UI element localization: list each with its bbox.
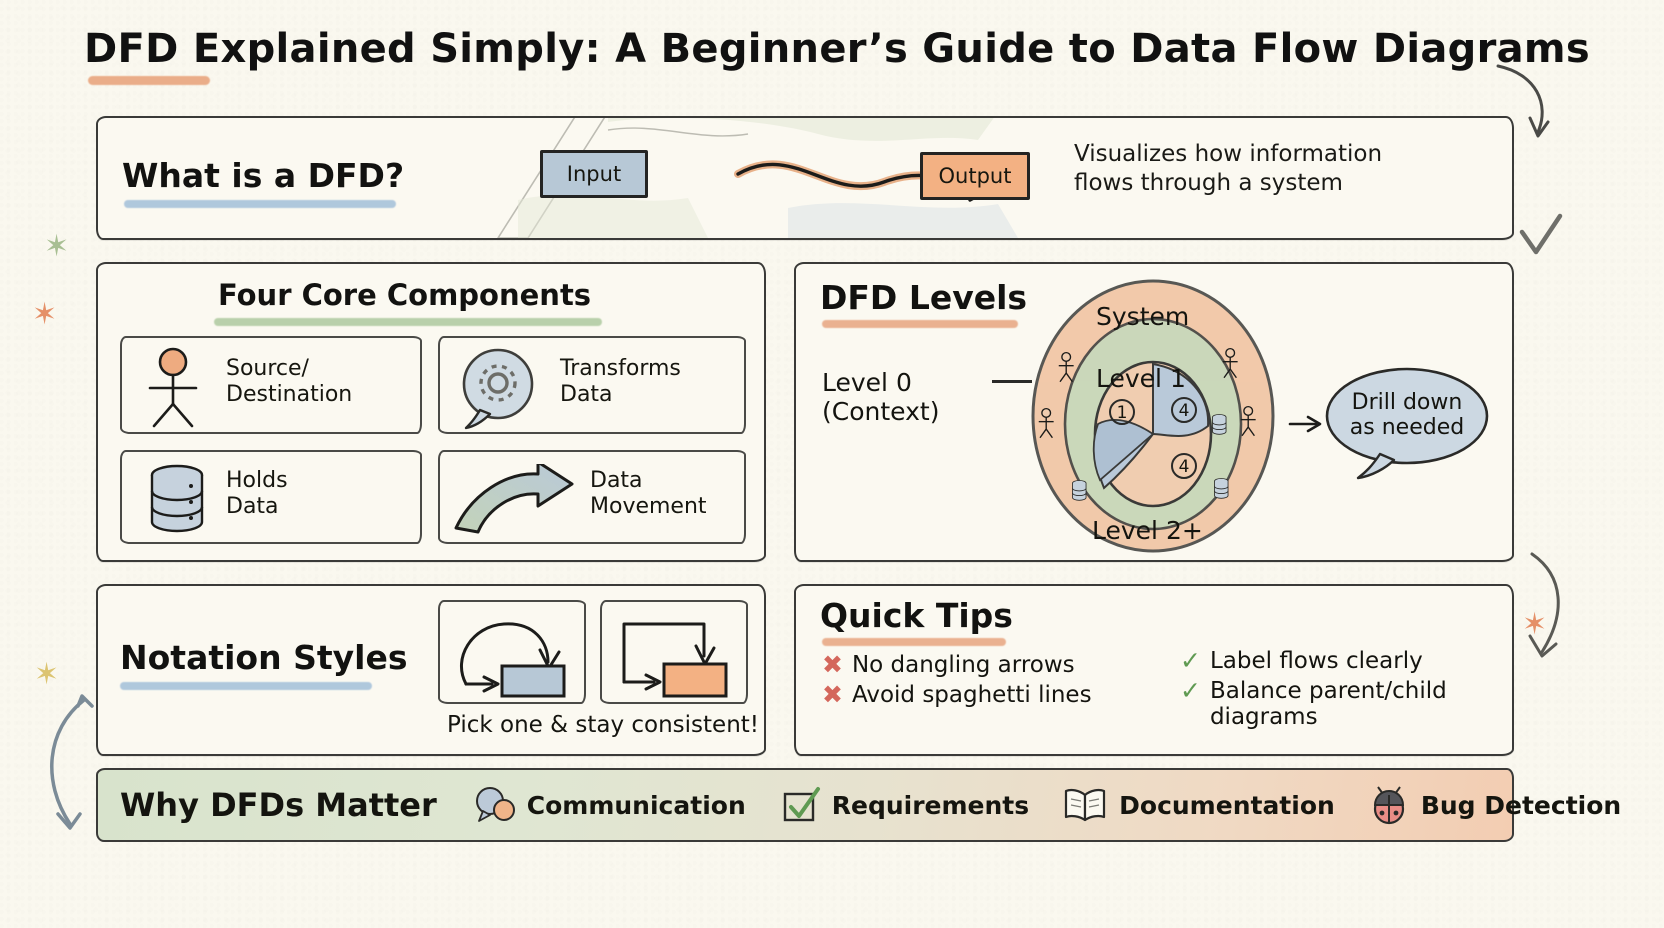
tips-heading-underline [822, 638, 1006, 646]
tips-dos-column: ✓ Label flows clearly ✓ Balance parent/c… [1180, 648, 1500, 734]
tip-do-label-1: Label flows clearly [1210, 648, 1423, 674]
component-cell-holds-data: Holds Data [120, 450, 422, 544]
gear-speech-bubble-icon [450, 344, 546, 432]
tip-row-dont-2: ✖ Avoid spaghetti lines [822, 682, 1152, 708]
tip-row-do-2: ✓ Balance parent/child diagrams [1180, 678, 1500, 730]
ladybug-icon [1369, 785, 1411, 825]
level0-label: Level 0 (Context) [822, 368, 1002, 426]
what-is-caption: Visualizes how information flows through… [1074, 140, 1474, 198]
why-item-requirements: Requirements [780, 785, 1029, 825]
orthogonal-flow-notation-icon [610, 608, 742, 700]
panel-notation-styles: Notation Styles Pick one & stay consiste [96, 584, 766, 756]
panel-why-dfds-matter: Why DFDs Matter Communication Requiremen… [96, 768, 1514, 842]
notation-heading: Notation Styles [120, 638, 407, 677]
notation-caption: Pick one & stay consistent! [438, 712, 768, 738]
component-label-2a: Transforms [560, 356, 681, 382]
check-mark-icon: ✓ [1180, 648, 1201, 673]
check-mark-icon: ✓ [1180, 678, 1201, 703]
ring-label-level1: Level 1 [1096, 364, 1186, 393]
component-label-3b: Data [226, 494, 288, 520]
x-mark-icon: ✖ [822, 682, 843, 707]
notation-card-curved[interactable] [438, 600, 586, 704]
svg-text:4: 4 [1179, 401, 1190, 421]
level0-line1: Level 0 [822, 368, 1002, 397]
levels-heading: DFD Levels [820, 278, 1027, 317]
x-mark-icon: ✖ [822, 652, 843, 677]
tip-row-do-1: ✓ Label flows clearly [1180, 648, 1500, 674]
tip-dont-label-1: No dangling arrows [852, 652, 1075, 678]
tip-do-label-2b: diagrams [1210, 704, 1447, 730]
checked-box-icon [780, 785, 822, 825]
component-label-1a: Source/ [226, 356, 352, 382]
components-heading: Four Core Components [218, 278, 591, 312]
notation-heading-underline [120, 682, 372, 690]
drill-down-arrow-icon [1288, 410, 1328, 436]
input-box-label: Input [567, 162, 621, 186]
panel-quick-tips: Quick Tips ✖ No dangling arrows ✖ Avoid … [794, 584, 1514, 756]
level0-line2: (Context) [822, 397, 1002, 426]
panel-what-is-a-dfd: What is a DFD? Input Output Visualizes h… [96, 116, 1514, 240]
output-box-label: Output [939, 164, 1012, 188]
tips-heading: Quick Tips [820, 596, 1013, 635]
speech-bubbles-icon [473, 785, 517, 825]
panel-four-core-components: Four Core Components Source/ Destination [96, 262, 766, 562]
why-heading: Why DFDs Matter [120, 786, 437, 824]
component-label-4b: Movement [590, 494, 707, 520]
tip-do-label-2a: Balance parent/child [1210, 678, 1447, 704]
component-label-2b: Data [560, 382, 681, 408]
curved-flow-notation-icon [448, 608, 580, 700]
curved-arrow-icon [452, 464, 580, 536]
component-cell-source-destination: Source/ Destination [120, 336, 422, 434]
star-yellow-left-lower: ✶ [34, 660, 59, 690]
star-orange-right: ✶ [1522, 610, 1547, 640]
input-box: Input [540, 150, 648, 198]
ring-label-level2plus: Level 2+ [1092, 516, 1203, 545]
what-is-caption-line2: flows through a system [1074, 169, 1474, 198]
callout-line2: as needed [1324, 415, 1490, 440]
why-item-communication: Communication [473, 785, 746, 825]
components-heading-underline [214, 318, 602, 326]
page-title: DFD Explained Simply: A Beginner’s Guide… [84, 26, 1544, 72]
component-label-4a: Data [590, 468, 707, 494]
tip-dont-label-2: Avoid spaghetti lines [852, 682, 1092, 708]
component-label-1b: Destination [226, 382, 352, 408]
component-label-3a: Holds [226, 468, 288, 494]
callout-line1: Drill down [1324, 390, 1490, 415]
star-green-left-top: ✶ [44, 232, 69, 262]
output-box: Output [920, 152, 1030, 200]
stick-figure-icon [142, 346, 204, 428]
notation-card-orthogonal[interactable] [600, 600, 748, 704]
why-label-bug-detection: Bug Detection [1421, 791, 1621, 820]
what-is-heading: What is a DFD? [122, 156, 404, 195]
why-label-documentation: Documentation [1119, 791, 1335, 820]
star-orange-left-upper: ✶ [32, 300, 57, 330]
why-label-requirements: Requirements [832, 791, 1029, 820]
why-item-bug-detection: Bug Detection [1369, 785, 1621, 825]
svg-text:4: 4 [1179, 457, 1190, 477]
what-is-heading-underline [124, 200, 396, 208]
why-label-communication: Communication [527, 791, 746, 820]
svg-text:1: 1 [1117, 403, 1128, 423]
why-item-documentation: Documentation [1063, 785, 1335, 825]
tip-row-dont-1: ✖ No dangling arrows [822, 652, 1152, 678]
check-mark-right-icon [1516, 210, 1566, 266]
what-is-caption-line1: Visualizes how information [1074, 140, 1474, 169]
open-book-icon [1063, 785, 1109, 825]
ring-label-system: System [1096, 302, 1189, 331]
component-cell-transforms-data: Transforms Data [438, 336, 746, 434]
tips-donts-column: ✖ No dangling arrows ✖ Avoid spaghetti l… [822, 652, 1152, 712]
infographic-canvas: DFD Explained Simply: A Beginner’s Guide… [0, 0, 1664, 928]
panel-dfd-levels: DFD Levels Level 0 (Context) 1 4 4 [794, 262, 1514, 562]
database-cylinder-icon [144, 462, 210, 538]
drill-down-callout: Drill down as needed [1324, 366, 1490, 470]
levels-heading-underline [822, 320, 1018, 328]
title-underline-highlight [88, 76, 210, 85]
component-cell-data-movement: Data Movement [438, 450, 746, 544]
